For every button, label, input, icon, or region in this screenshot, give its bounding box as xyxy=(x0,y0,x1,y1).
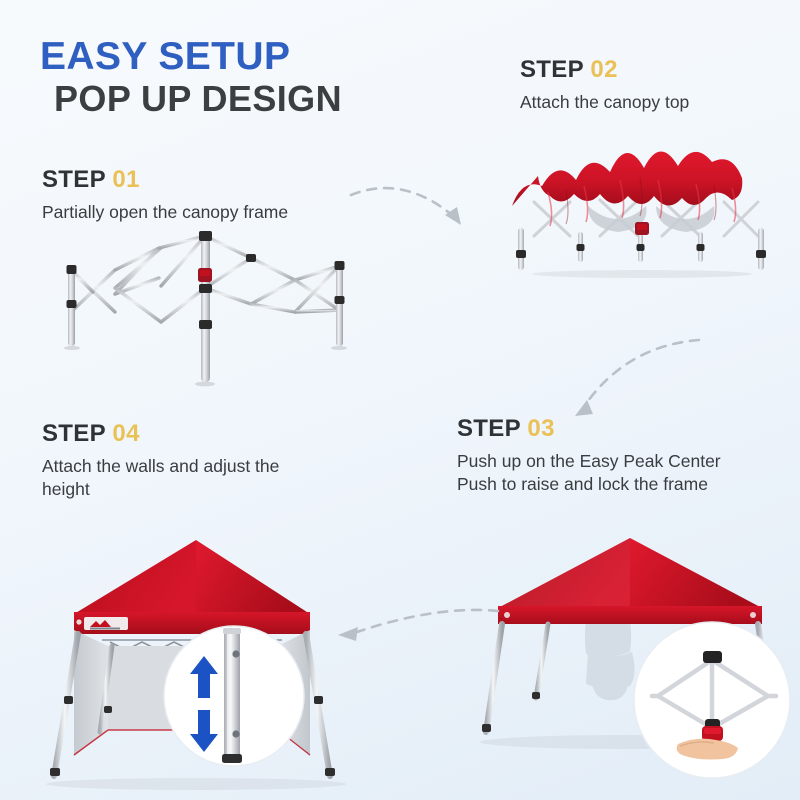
step-01-illustration xyxy=(55,228,355,388)
step-01-description: Partially open the canopy frame xyxy=(42,201,372,225)
arrow-head-icon xyxy=(575,400,593,416)
step-02-label: STEP xyxy=(520,56,583,83)
step-01-text-block: STEP 01 Partially open the canopy frame xyxy=(42,166,372,224)
infographic-canvas: EASY SETUP POP UP DESIGN STEP 01 Partial… xyxy=(0,0,800,800)
step-04-heading: STEP 04 xyxy=(42,420,352,448)
step-03-inset-detail xyxy=(634,622,790,778)
arrow-dashed-path xyxy=(583,340,699,408)
arrow-dashed-path xyxy=(351,188,459,221)
step-01-heading: STEP 01 xyxy=(42,166,372,194)
leg-foot xyxy=(222,754,242,763)
step-03-label: STEP xyxy=(457,415,520,442)
inset-telescoping-leg xyxy=(222,628,242,763)
easy-peak-center-hub xyxy=(635,222,649,235)
step-03-description: Push up on the Easy Peak Center Push to … xyxy=(457,450,787,497)
step-04-label: STEP xyxy=(42,420,105,447)
headline-line-2: POP UP DESIGN xyxy=(54,78,342,119)
arrow-head-icon xyxy=(445,207,461,225)
red-canopy-fabric xyxy=(512,151,742,206)
step-02-text-block: STEP 02 Attach the canopy top xyxy=(520,56,790,114)
arrow-dashed-path xyxy=(354,610,498,633)
arrow-step3-to-step4 xyxy=(328,605,513,690)
step-02-number: 02 xyxy=(590,56,617,83)
step-01-number: 01 xyxy=(112,166,139,193)
arrow-step1-to-step2 xyxy=(345,163,525,258)
valance-corner-grommet xyxy=(76,619,81,624)
leg-pin-hole xyxy=(232,650,239,657)
canopy-roof xyxy=(498,538,762,608)
step-01-label: STEP xyxy=(42,166,105,193)
step-04-description-line-1: Attach the walls and adjust the xyxy=(42,455,352,479)
step-03-description-line-2: Push to raise and lock the frame xyxy=(457,473,787,497)
canopy-valance xyxy=(498,606,762,624)
step-02-illustration xyxy=(492,140,792,280)
step-04-description-line-2: height xyxy=(42,478,352,502)
step-03-illustration xyxy=(480,520,795,790)
step-04-text-block: STEP 04 Attach the walls and adjust the … xyxy=(42,420,352,502)
brand-badge-eagle-peak xyxy=(84,617,128,630)
step-02-heading: STEP 02 xyxy=(520,56,790,84)
step-04-description: Attach the walls and adjust the height xyxy=(42,455,352,502)
step-04-number: 04 xyxy=(112,420,139,447)
headline-line-1: EASY SETUP xyxy=(40,36,342,78)
step-04-illustration xyxy=(38,518,358,793)
side-wall-left xyxy=(74,630,108,756)
step-04-inset-detail xyxy=(164,626,304,766)
arrow-head-icon xyxy=(338,627,358,641)
page-title: EASY SETUP POP UP DESIGN xyxy=(40,36,342,120)
step-03-description-line-1: Push up on the Easy Peak Center xyxy=(457,450,787,474)
arrow-step2-to-step3 xyxy=(523,318,723,433)
step-02-description: Attach the canopy top xyxy=(520,91,790,115)
easy-peak-center-hub xyxy=(198,268,212,282)
canopy-roof xyxy=(74,540,310,614)
